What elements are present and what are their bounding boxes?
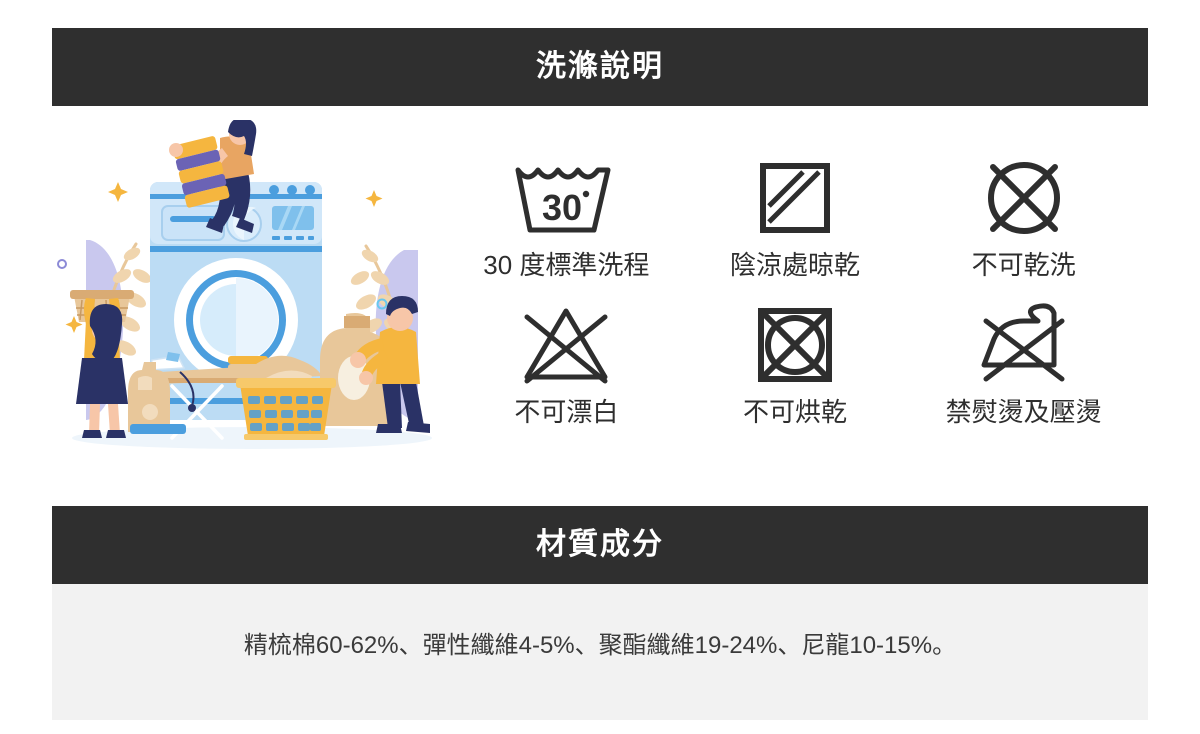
care-section-title: 洗滌說明 xyxy=(52,28,1148,106)
do-not-bleach-icon xyxy=(517,299,615,391)
care-symbol-no-dry-clean: 不可乾洗 xyxy=(909,152,1138,281)
care-symbol-no-iron: 禁熨燙及壓燙 xyxy=(909,299,1138,428)
material-section-body: 精梳棉60-62%、彈性纖維4-5%、聚酯纖維19-24%、尼龍10-15%。 xyxy=(52,584,1148,720)
dry-in-shade-icon xyxy=(753,152,837,244)
laundry-illustration xyxy=(52,120,452,460)
content-wrapper: 洗滌說明 xyxy=(52,28,1148,720)
material-composition-text: 精梳棉60-62%、彈性纖維4-5%、聚酯纖維19-24%、尼龍10-15%。 xyxy=(92,628,1108,664)
do-not-iron-icon xyxy=(972,299,1076,391)
care-symbol-label: 禁熨燙及壓燙 xyxy=(946,397,1102,428)
care-symbol-no-bleach: 不可漂白 xyxy=(452,299,681,428)
material-section-title: 材質成分 xyxy=(52,506,1148,584)
do-not-dry-clean-icon xyxy=(980,152,1068,244)
care-section-body: 30 30 度標準洗程 陰涼處晾乾 xyxy=(52,106,1148,478)
care-symbol-label: 30 度標準洗程 xyxy=(483,250,649,281)
care-instructions-page: 洗滌說明 xyxy=(0,0,1200,734)
care-symbol-label: 不可漂白 xyxy=(514,397,618,428)
care-symbols-grid: 30 30 度標準洗程 陰涼處晾乾 xyxy=(452,152,1148,428)
care-symbol-label: 陰涼處晾乾 xyxy=(730,250,860,281)
care-symbol-label: 不可乾洗 xyxy=(972,250,1076,281)
care-symbol-no-tumble-dry: 不可烘乾 xyxy=(681,299,910,428)
care-symbol-dry-in-shade: 陰涼處晾乾 xyxy=(681,152,910,281)
do-not-tumble-dry-icon xyxy=(751,299,839,391)
wash-tub-30-icon: 30 xyxy=(506,152,626,244)
material-section: 材質成分 精梳棉60-62%、彈性纖維4-5%、聚酯纖維19-24%、尼龍10-… xyxy=(52,506,1148,720)
care-symbol-label: 不可烘乾 xyxy=(743,397,847,428)
svg-text:30: 30 xyxy=(542,187,582,228)
care-symbol-wash-30: 30 30 度標準洗程 xyxy=(452,152,681,281)
